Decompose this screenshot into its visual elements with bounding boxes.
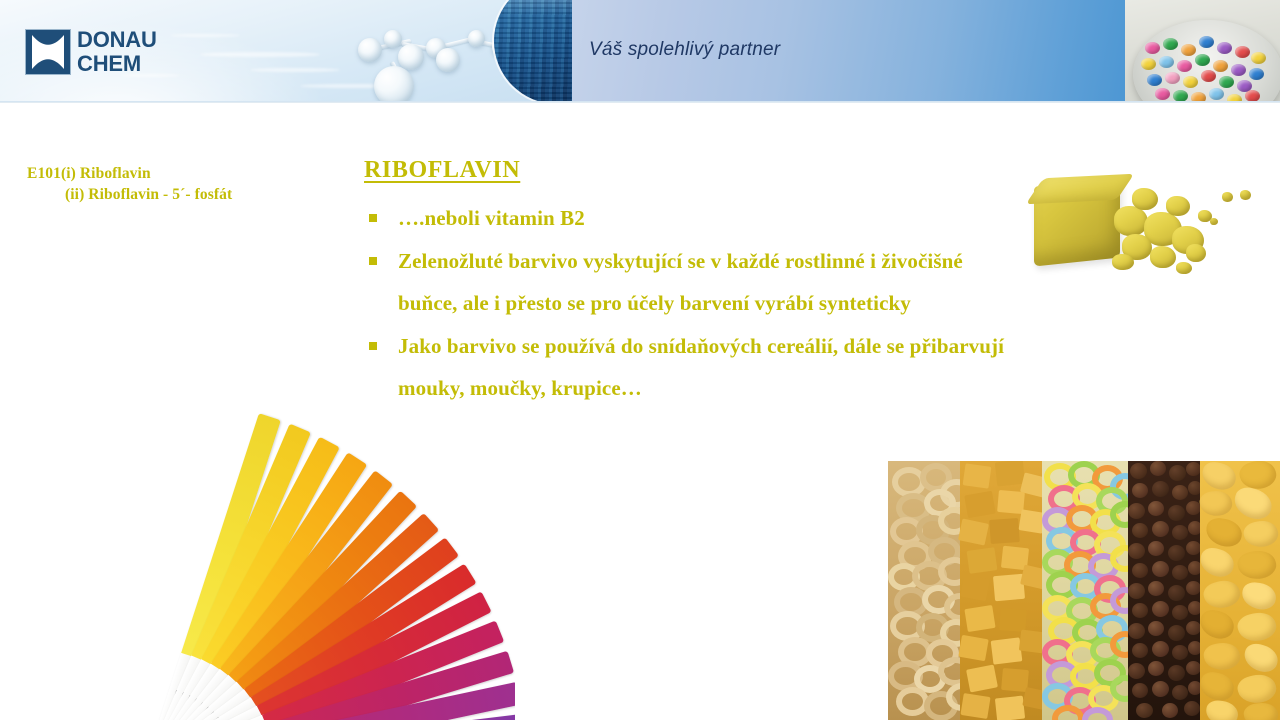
page-title: RIBOFLAVIN (364, 157, 520, 184)
cereal-band-fruit-loops (1042, 461, 1128, 720)
e-number-line2: (ii) Riboflavin - 5´- fosfát (27, 184, 337, 205)
list-item: ….neboli vitamin B2 (364, 197, 1014, 239)
slide: DONAU CHEM Váš spolehlivý (0, 0, 1280, 720)
logo-text-line2: CHEM (77, 53, 157, 75)
header-streak (250, 68, 340, 72)
header-streak (170, 34, 240, 37)
donau-chem-logo[interactable]: DONAU CHEM (26, 29, 157, 75)
cereal-band-oat-rings (888, 461, 960, 720)
tagline-text: Váš spolehlivý partner (589, 39, 780, 61)
fan-blades (0, 390, 515, 720)
candy-bowl-image (1125, 0, 1280, 103)
e-number-line1: E101(i) Riboflavin (27, 165, 151, 182)
cereal-band-corn-flakes (1200, 461, 1280, 720)
list-item-text: ….neboli vitamin B2 (398, 206, 585, 230)
tagline-band: Váš spolehlivý partner (572, 0, 1125, 103)
list-item: Zelenožluté barvivo vyskytující se v kaž… (364, 240, 1014, 324)
hourglass-mark-icon (26, 30, 70, 74)
breakfast-cereal-image (888, 461, 1280, 720)
square-bullet-icon (369, 257, 377, 265)
cereal-band-wheat-squares (960, 461, 1042, 720)
e-number-label: E101(i) Riboflavin (ii) Riboflavin - 5´-… (27, 163, 337, 205)
slide-header: DONAU CHEM Váš spolehlivý (0, 0, 1280, 103)
yellow-bouillon-cube-image (1026, 168, 1261, 286)
square-bullet-icon (369, 342, 377, 350)
pantone-color-fan-image (0, 372, 515, 720)
cereal-band-cocoa-balls (1128, 461, 1200, 720)
header-bottom-edge (0, 101, 1280, 103)
logo-text-line1: DONAU (77, 29, 157, 51)
candy-bowl (1133, 20, 1280, 103)
header-streak (200, 52, 320, 57)
square-bullet-icon (369, 214, 377, 222)
list-item-text: Zelenožluté barvivo vyskytující se v kaž… (398, 249, 963, 315)
